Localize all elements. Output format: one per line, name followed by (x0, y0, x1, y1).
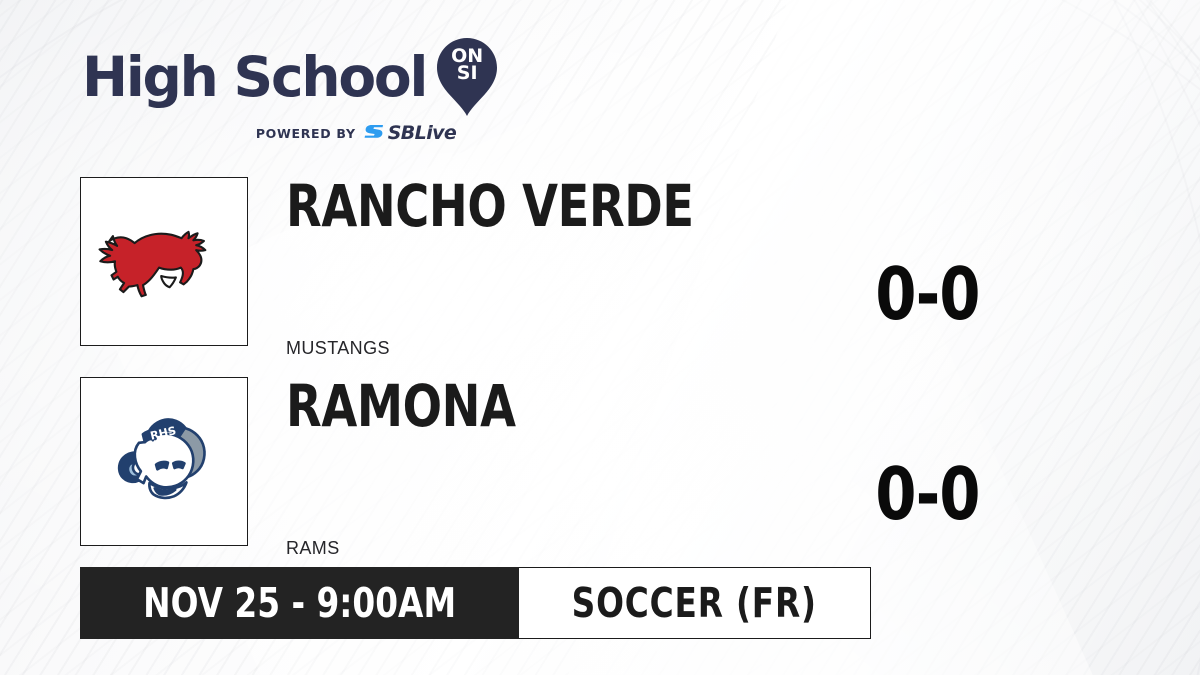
team-text-block: RAMONA RAMS (286, 377, 926, 435)
pin-line-si: SI (436, 65, 498, 82)
game-datetime-chip: NOV 25 - 9:00AM (80, 567, 519, 639)
sblive-s-mark-icon (364, 124, 384, 143)
team-logo-box (80, 177, 248, 346)
on-si-pin-text: ON SI (436, 48, 498, 82)
powered-by-label: POWERED BY (256, 126, 356, 141)
sblive-wordmark: SBLive (388, 122, 456, 144)
team-record-value: 0-0 (876, 458, 980, 530)
mustang-horse-icon (94, 192, 234, 332)
team-text-block: RANCHO VERDE MUSTANGS (286, 177, 926, 235)
team-name: RANCHO VERDE (286, 177, 798, 235)
team-mascot: MUSTANGS (286, 338, 390, 359)
team-name: RAMONA (286, 377, 798, 435)
powered-by-row: POWERED BY SBLive (200, 122, 512, 144)
sblive-logo: SBLive (364, 122, 456, 144)
team-record-score: 0-0 (838, 458, 1018, 530)
team-record-value: 0-0 (876, 258, 980, 330)
brand-header: High School ON SI POWERED BY SBLive (82, 38, 512, 144)
on-si-pin-icon: ON SI (436, 38, 498, 116)
brand-wordmark: High School (82, 50, 426, 105)
team-record-score: 0-0 (838, 258, 1018, 330)
brand-logo-row: High School ON SI (82, 38, 512, 116)
team-logo-box: RHS (80, 377, 248, 546)
game-datetime-text: NOV 25 - 9:00AM (143, 583, 456, 624)
game-sport-text: SOCCER (FR) (572, 583, 817, 624)
game-info-bar: NOV 25 - 9:00AM SOCCER (FR) (80, 567, 871, 639)
scoreboard-graphic: High School ON SI POWERED BY SBLive (0, 0, 1200, 675)
ram-head-icon: RHS (98, 396, 230, 528)
game-sport-chip: SOCCER (FR) (519, 567, 870, 639)
team-mascot: RAMS (286, 538, 340, 559)
